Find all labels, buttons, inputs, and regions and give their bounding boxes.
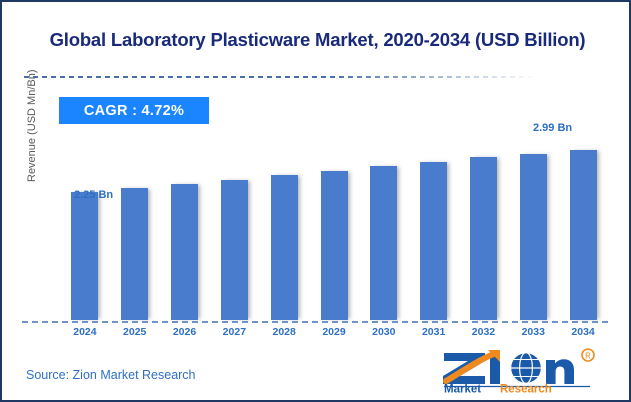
bar-2031 bbox=[420, 162, 447, 320]
bar-2025 bbox=[121, 188, 148, 320]
bar-value-label-first: 2.25 Bn bbox=[74, 189, 113, 201]
x-tick-2027: 2027 bbox=[209, 326, 259, 338]
x-axis-line bbox=[22, 321, 612, 323]
source-caption: Source: Zion Market Research bbox=[26, 368, 196, 382]
x-tick-2028: 2028 bbox=[259, 326, 309, 338]
page-title: Global Laboratory Plasticware Market, 20… bbox=[2, 29, 631, 51]
bar-2033 bbox=[520, 154, 547, 320]
logo-artwork: R Market Research bbox=[438, 347, 613, 393]
x-tick-2030: 2030 bbox=[359, 326, 409, 338]
bar-2029 bbox=[321, 171, 348, 320]
title-divider bbox=[24, 76, 584, 78]
zion-market-research-logo: R Market Research bbox=[438, 347, 613, 393]
bar-chart-plot-area bbox=[60, 132, 608, 320]
x-tick-2031: 2031 bbox=[409, 326, 459, 338]
bar-2032 bbox=[470, 157, 497, 320]
chart-card: Global Laboratory Plasticware Market, 20… bbox=[0, 0, 631, 402]
x-tick-2033: 2033 bbox=[508, 326, 558, 338]
bar-value-label-last: 2.99 Bn bbox=[533, 122, 572, 134]
x-tick-2032: 2032 bbox=[458, 326, 508, 338]
y-axis-title: Revenue (USD Mn/Bn) bbox=[26, 32, 38, 182]
x-tick-2026: 2026 bbox=[160, 326, 210, 338]
x-tick-2034: 2034 bbox=[558, 326, 608, 338]
x-axis-tick-labels: 2024202520262027202820292030203120322033… bbox=[60, 326, 608, 344]
bar-2026 bbox=[171, 184, 198, 320]
bar-2027 bbox=[221, 180, 248, 320]
x-tick-2024: 2024 bbox=[60, 326, 110, 338]
bar-2028 bbox=[271, 175, 298, 320]
cagr-badge: CAGR : 4.72% bbox=[59, 97, 209, 124]
x-tick-2025: 2025 bbox=[110, 326, 160, 338]
logo-tagline-research: Research bbox=[500, 384, 552, 394]
svg-text:R: R bbox=[585, 351, 591, 360]
bar-2024 bbox=[71, 192, 98, 320]
bar-2034 bbox=[570, 150, 597, 320]
x-tick-2029: 2029 bbox=[309, 326, 359, 338]
bar-2030 bbox=[370, 166, 397, 320]
logo-tagline-market: Market bbox=[444, 384, 481, 394]
